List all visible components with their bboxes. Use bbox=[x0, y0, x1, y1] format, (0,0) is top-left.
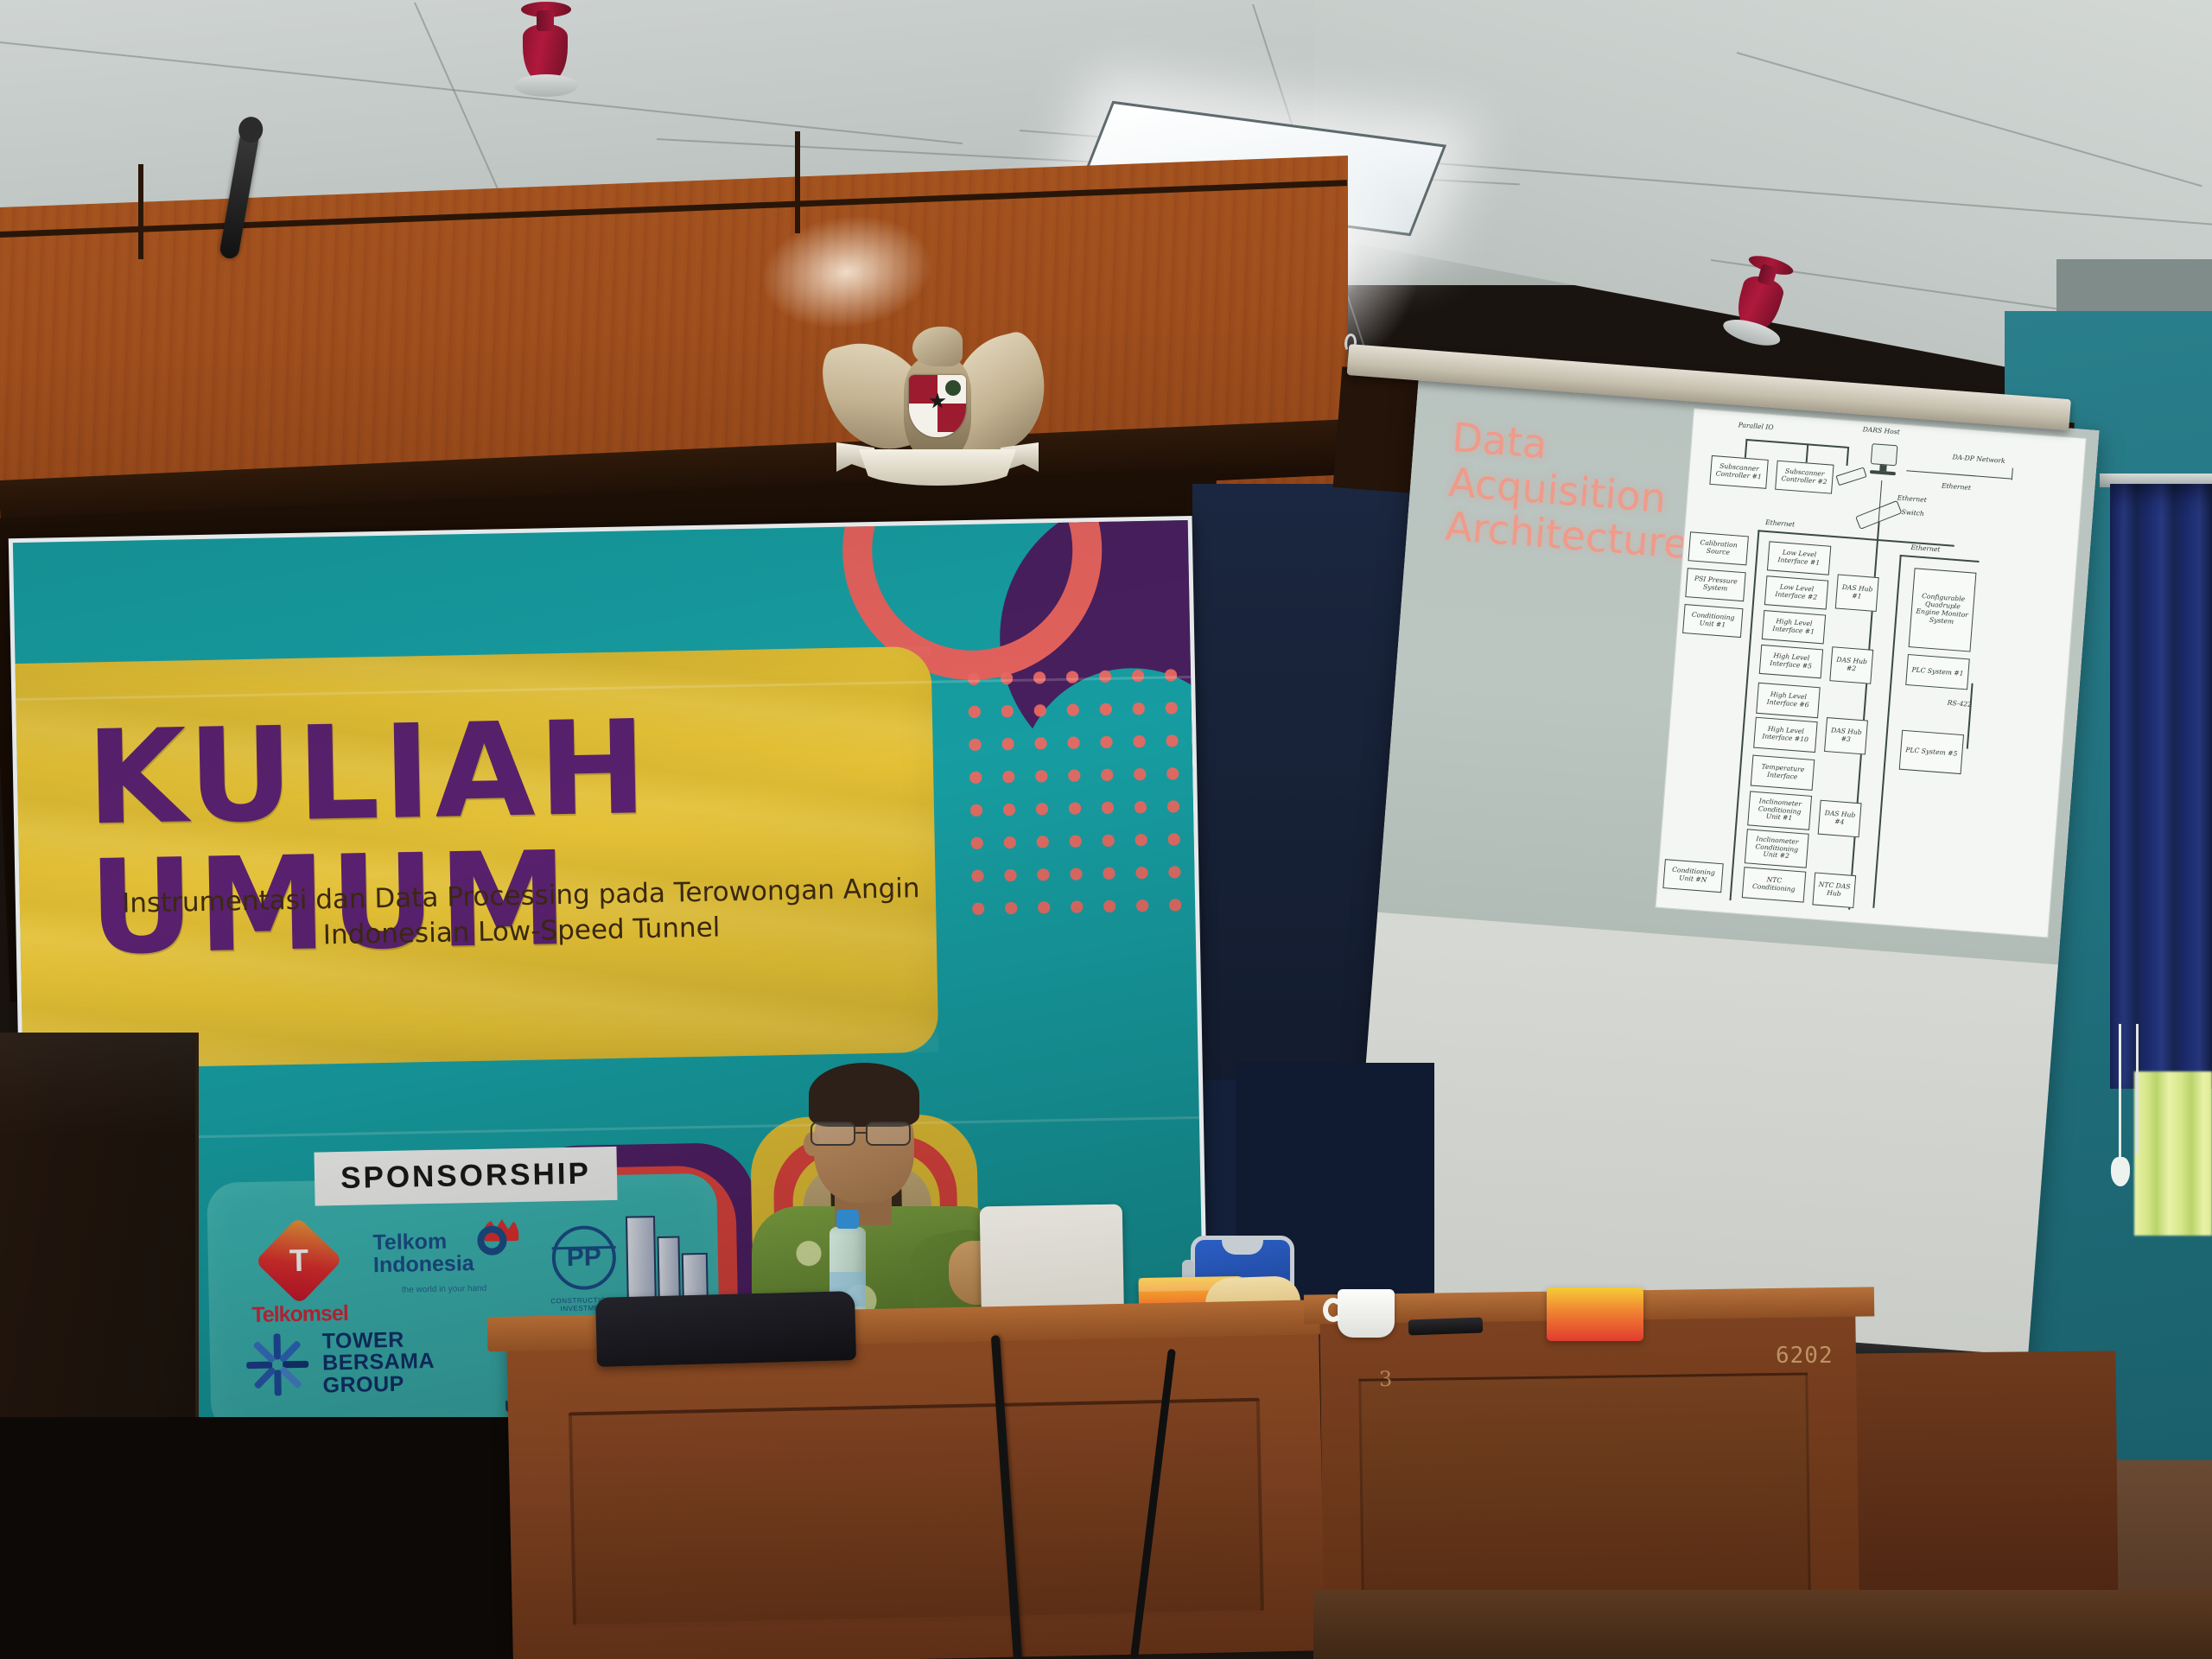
diagram-box: Low Level Interface #1 bbox=[1767, 541, 1831, 575]
diagram-box: Configurable Quadruple Engine Monitor Sy… bbox=[1909, 568, 1977, 652]
telkom-tagline: the world in your hand bbox=[368, 1283, 519, 1295]
telkomsel-diamond-icon: T bbox=[255, 1217, 343, 1305]
presenter-hair bbox=[809, 1063, 919, 1127]
eyeglasses-icon bbox=[805, 1122, 926, 1147]
pp-wordmark: PP bbox=[567, 1243, 602, 1273]
dars-host-computer-icon bbox=[1862, 442, 1904, 481]
monitor-base bbox=[1870, 470, 1896, 475]
diagram-box: High Level Interface #5 bbox=[1759, 645, 1823, 678]
diagram-label-ethernet: Ethernet bbox=[1942, 481, 1972, 492]
diagram-box: Subscanner Controller #2 bbox=[1775, 461, 1834, 494]
screen-pull-cord[interactable] bbox=[2119, 1024, 2121, 1171]
sponsorship-label: SPONSORSHIP bbox=[314, 1147, 617, 1206]
burst-ray bbox=[252, 1341, 276, 1364]
building-icon bbox=[620, 1206, 717, 1308]
diagram-box: PSI Pressure System bbox=[1685, 568, 1745, 601]
telkom-circle-icon bbox=[477, 1225, 507, 1255]
desk-marking-left: 3 bbox=[1379, 1367, 1393, 1392]
diagram-connector bbox=[1745, 439, 1847, 448]
burst-ray bbox=[253, 1366, 276, 1389]
telkomsel-wordmark: Telkomsel bbox=[244, 1301, 357, 1328]
garuda-emblem-icon bbox=[829, 321, 1046, 503]
screen-pull-cord[interactable] bbox=[2136, 1024, 2139, 1154]
data-acquisition-diagram: Parallel IO DARS Host DA-DP Network Ethe… bbox=[1656, 408, 2087, 938]
diagram-connector bbox=[1745, 439, 1747, 458]
garuda-head bbox=[912, 327, 963, 366]
telkom-ring-icon bbox=[474, 1217, 523, 1262]
diagram-box: Conditioning Unit #N bbox=[1662, 859, 1723, 893]
diagram-box: High Level Interface #10 bbox=[1753, 717, 1818, 753]
floor-shadow-left bbox=[0, 1417, 536, 1659]
spotlight-shade bbox=[523, 24, 568, 81]
spotlight-rim bbox=[514, 74, 578, 97]
diagram-box: DAS Hub #3 bbox=[1824, 717, 1868, 755]
decor-dot-grid bbox=[957, 658, 1205, 922]
diagram-connector bbox=[1967, 683, 1974, 749]
coffee-cup[interactable] bbox=[1338, 1289, 1395, 1338]
diagram-box: High Level Interface #1 bbox=[1762, 610, 1826, 644]
diagram-label-parallel-io: Parallel IO bbox=[1738, 421, 1773, 431]
sponsor-logo-telkomsel: T Telkomsel bbox=[242, 1229, 356, 1328]
diagram-connector bbox=[1806, 443, 1808, 462]
snack-box[interactable] bbox=[1547, 1287, 1643, 1341]
wood-panel-divider bbox=[795, 131, 800, 233]
pancasila-shield-icon bbox=[909, 375, 966, 437]
sponsor-logo-building bbox=[620, 1206, 717, 1308]
diagram-box: High Level Interface #6 bbox=[1756, 683, 1821, 718]
sponsor-logo-telkom-indonesia: Telkom Indonesia the world in your hand bbox=[367, 1229, 519, 1295]
diagram-box: Low Level Interface #2 bbox=[1764, 575, 1828, 609]
wood-panel-divider bbox=[138, 164, 143, 259]
diagram-label-da-dp-network: DA-DP Network bbox=[1952, 453, 2005, 465]
diagram-label-ethernet: Ethernet bbox=[1897, 494, 1927, 505]
garuda-motto-ribbon bbox=[859, 449, 1016, 486]
cup-handle bbox=[1323, 1298, 1344, 1322]
far-desk bbox=[1839, 1351, 2118, 1604]
diagram-connector bbox=[2012, 468, 2013, 480]
diagram-box: Inclinometer Conditioning Unit #1 bbox=[1747, 791, 1812, 829]
smartphone[interactable] bbox=[1408, 1318, 1484, 1336]
bottle-cap bbox=[836, 1210, 859, 1229]
chair-notch bbox=[1222, 1236, 1263, 1255]
diagram-box: Inclinometer Conditioning Unit #2 bbox=[1745, 829, 1809, 868]
spotlight-icon bbox=[523, 24, 568, 81]
tower-bersama-burst-icon bbox=[240, 1328, 315, 1402]
diagram-box: DAS Hub #1 bbox=[1835, 574, 1879, 612]
window-curtain bbox=[2110, 484, 2212, 1089]
floor bbox=[1313, 1590, 2212, 1659]
diagram-label-rs422: RS-422 bbox=[1947, 699, 1972, 709]
diagram-connector bbox=[1906, 470, 2012, 480]
banyan-tree-icon bbox=[945, 380, 961, 396]
shield-quadrant bbox=[938, 404, 966, 432]
diagram-box: NTC DAS Hub bbox=[1812, 872, 1856, 908]
window-light bbox=[2134, 1071, 2212, 1236]
sponsor-logo-tower-bersama: TOWER BERSAMA GROUP bbox=[240, 1325, 467, 1402]
shield-quadrant bbox=[909, 404, 938, 432]
diagram-box: DAS Hub #2 bbox=[1829, 646, 1873, 684]
burst-ray bbox=[246, 1362, 272, 1370]
diagram-box: DAS Hub #4 bbox=[1818, 800, 1862, 838]
diagram-box: Conditioning Unit #1 bbox=[1682, 604, 1743, 638]
wall-light-reflection bbox=[753, 205, 940, 340]
presenter-desk bbox=[506, 1322, 1325, 1659]
diagram-label-dars-host: DARS Host bbox=[1862, 425, 1900, 435]
diagram-box: PLC System #1 bbox=[1905, 654, 1970, 690]
diagram-label-ethernet: Ethernet bbox=[1765, 518, 1796, 529]
diagram-box: Temperature Interface bbox=[1751, 755, 1815, 791]
monitor-icon bbox=[1871, 443, 1898, 466]
diagram-bus bbox=[1872, 555, 1901, 908]
diagram-box: Subscanner Controller #1 bbox=[1709, 455, 1768, 489]
burst-ray bbox=[283, 1361, 308, 1369]
diagram-connector bbox=[1847, 447, 1849, 466]
diagram-bus bbox=[1900, 555, 1980, 563]
diagram-label-switch: Switch bbox=[1901, 508, 1924, 518]
panel-highlight bbox=[0, 1033, 195, 1136]
keyboard-icon bbox=[1836, 467, 1867, 486]
tbg-wordmark-line-2: BERSAMA bbox=[322, 1351, 435, 1375]
tbg-wordmark-line-3: GROUP bbox=[322, 1373, 435, 1397]
burst-ray bbox=[274, 1370, 282, 1395]
diagram-box: PLC System #5 bbox=[1899, 730, 1964, 774]
telkomsel-mark-letter: T bbox=[289, 1243, 308, 1279]
pp-circle-icon: PP bbox=[551, 1225, 616, 1290]
banner-fold-line bbox=[24, 1116, 1199, 1141]
diagram-box: NTC Conditioning bbox=[1742, 867, 1807, 902]
burst-ray bbox=[278, 1340, 302, 1363]
lecture-hall-photo: KULIAH UMUM Instrumentasi dan Data Proce… bbox=[0, 0, 2212, 1659]
laptop-bag[interactable] bbox=[595, 1291, 856, 1367]
desk-marking-right: 6202 bbox=[1776, 1343, 1834, 1369]
projector-screen: Data Acquisition Architecture Parallel I… bbox=[1346, 378, 2099, 1370]
diagram-box: Calibration Source bbox=[1688, 531, 1749, 565]
burst-ray bbox=[279, 1366, 302, 1389]
spotlight-neck bbox=[537, 10, 554, 31]
